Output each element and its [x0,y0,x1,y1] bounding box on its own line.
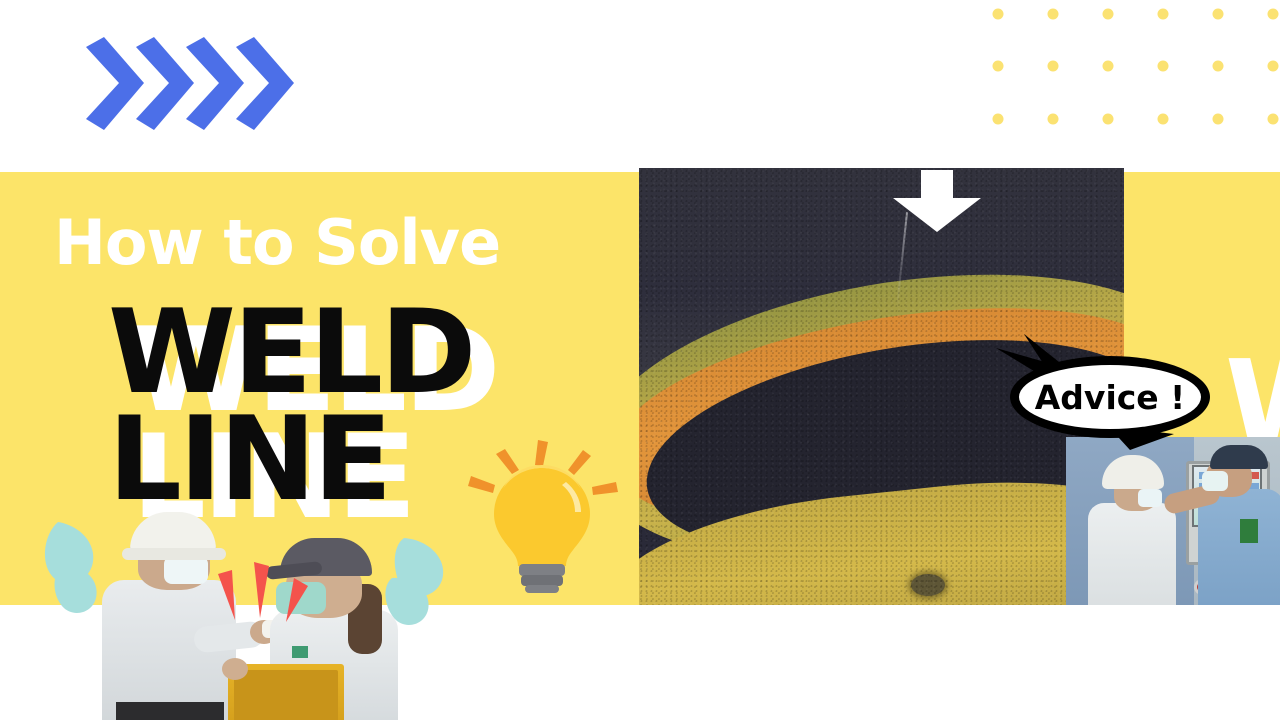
headline-main: WELDLINE [108,300,473,513]
anger-marks-icon [214,558,324,624]
operator-right-body [1198,489,1280,605]
operator-left-body [1088,503,1176,605]
operator-left-hard-hat [1102,455,1164,489]
thumbnail-canvas: WELD LINE [0,0,1280,720]
supervisor-face-mask [164,556,208,584]
headline-line2: LINE [108,392,389,527]
advice-callout: Advice ! [988,330,1228,450]
operator-uniform-logo [292,646,308,658]
page-kicker: How to Solve [54,212,500,274]
operators-at-machine-photo [1066,437,1280,605]
dot-grid [970,0,1280,140]
operator-right-figure [1202,445,1280,605]
arrow-down-icon [893,170,981,232]
header-bar [0,0,1280,172]
operator-hand [222,658,248,680]
operator-left-figure [1080,455,1166,605]
operator-left-face-mask [1138,489,1162,507]
advice-bubble-label: Advice ! [1035,378,1185,417]
supervisor-trousers [116,702,224,720]
operator-right-badge [1240,519,1258,543]
operator-right-face-mask [1202,471,1228,491]
advice-bubble: Advice ! [1010,356,1210,438]
chevron-logo [86,37,301,130]
lightbulb-icon [462,438,622,593]
supervisor-hard-hat-brim [122,548,226,560]
